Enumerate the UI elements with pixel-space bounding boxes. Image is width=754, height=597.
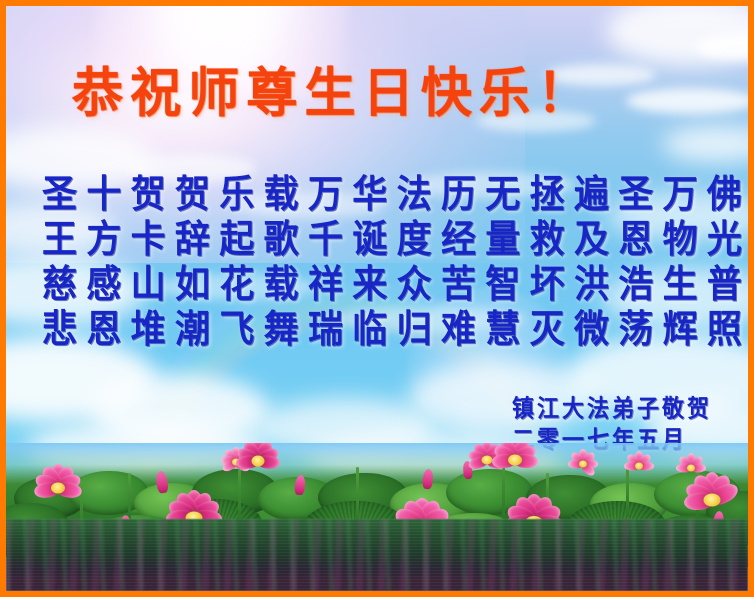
poem-char: 感 xyxy=(86,264,121,305)
poem-char: 潮 xyxy=(175,309,210,350)
poem-row: 慈 感 山 如 花 载 祥 来 众 苦 智 坏 洪 浩 生 普 xyxy=(42,262,742,307)
poem-char: 飞 xyxy=(219,309,254,350)
water-reflections xyxy=(6,519,748,591)
poem-row: 王 方 卡 辞 起 歌 千 诞 度 经 量 救 及 恩 物 光 xyxy=(42,217,742,262)
poem-char: 遍 xyxy=(574,174,609,215)
poem-char: 佛 xyxy=(707,174,742,215)
lotus-pond-illustration xyxy=(6,443,748,591)
poem-char: 浩 xyxy=(618,264,653,305)
poem-char: 物 xyxy=(663,219,698,260)
poem-char: 歌 xyxy=(264,219,299,260)
poem-char: 卡 xyxy=(131,219,166,260)
poem-char: 起 xyxy=(219,219,254,260)
poem-char: 苦 xyxy=(441,264,476,305)
poem-char: 无 xyxy=(485,174,520,215)
poem-char: 慧 xyxy=(485,309,520,350)
poem-char: 众 xyxy=(397,264,432,305)
poem-char: 来 xyxy=(352,264,387,305)
poem-char: 贺 xyxy=(131,174,166,215)
poem-char: 及 xyxy=(574,219,609,260)
poem-char: 载 xyxy=(264,174,299,215)
lotus-flower xyxy=(484,443,546,483)
poem-char: 临 xyxy=(352,309,387,350)
lotus-center xyxy=(51,483,65,494)
lotus-center xyxy=(687,465,695,472)
lotus-center xyxy=(508,455,522,466)
poem-char: 辞 xyxy=(175,219,210,260)
poem-char: 归 xyxy=(397,309,432,350)
poem-block: 圣 十 贺 贺 乐 载 万 华 法 历 无 拯 遍 圣 万 佛 王 方 卡 xyxy=(42,172,742,352)
poem-char: 万 xyxy=(308,174,343,215)
poem-char: 乐 xyxy=(219,174,254,215)
page-title: 恭祝师尊生日快乐！ xyxy=(72,62,595,123)
poem-char: 普 xyxy=(707,264,742,305)
poem-char: 方 xyxy=(86,219,121,260)
lotus-flower xyxy=(228,443,288,483)
lotus-center xyxy=(635,463,643,470)
poem-char: 难 xyxy=(441,309,476,350)
poem-char: 万 xyxy=(663,174,698,215)
lotus-flower xyxy=(618,451,660,481)
poem-char: 慈 xyxy=(42,264,77,305)
poem-char: 十 xyxy=(86,174,121,215)
poem-char: 山 xyxy=(131,264,166,305)
poem-char: 历 xyxy=(441,174,476,215)
poem-char: 坏 xyxy=(530,264,565,305)
poem-char: 载 xyxy=(264,264,299,305)
poem-char: 度 xyxy=(397,219,432,260)
poem-char: 救 xyxy=(530,219,565,260)
lotus-center xyxy=(252,456,265,467)
lotus-center xyxy=(704,494,721,507)
poem-char: 舞 xyxy=(264,309,299,350)
cloud-icon xyxy=(626,88,748,114)
poem-char: 微 xyxy=(574,309,609,350)
poem-char: 光 xyxy=(707,219,742,260)
poem-char: 生 xyxy=(663,264,698,305)
poem-row: 悲 恩 堆 潮 飞 舞 瑞 临 归 难 慧 灭 微 荡 辉 照 xyxy=(42,307,742,352)
poem-char: 拯 xyxy=(530,174,565,215)
poem-char: 如 xyxy=(175,264,210,305)
poem-char: 千 xyxy=(308,219,343,260)
poem-char: 堆 xyxy=(131,309,166,350)
lotus-flower xyxy=(562,449,604,479)
lotus-flower xyxy=(26,465,90,511)
poem-char: 王 xyxy=(42,219,77,260)
poem-char: 贺 xyxy=(175,174,210,215)
poem-char: 智 xyxy=(485,264,520,305)
poem-char: 照 xyxy=(707,309,742,350)
poem-char: 荡 xyxy=(618,309,653,350)
poem-char: 圣 xyxy=(42,174,77,215)
poem-char: 恩 xyxy=(618,219,653,260)
signature-sender: 镇江大法弟子敬贺 xyxy=(512,393,712,426)
lotus-stem xyxy=(128,473,131,521)
greeting-card: 恭祝师尊生日快乐！ 圣 十 贺 贺 乐 载 万 华 法 历 无 拯 遍 圣 万 … xyxy=(0,0,754,597)
poem-char: 花 xyxy=(219,264,254,305)
poem-char: 辉 xyxy=(663,309,698,350)
poem-char: 瑞 xyxy=(308,309,343,350)
poem-char: 法 xyxy=(397,174,432,215)
poem-char: 华 xyxy=(352,174,387,215)
poem-char: 经 xyxy=(441,219,476,260)
poem-char: 灭 xyxy=(530,309,565,350)
poem-char: 悲 xyxy=(42,309,77,350)
poem-char: 恩 xyxy=(86,309,121,350)
lotus-center xyxy=(579,461,587,468)
card-scene: 恭祝师尊生日快乐！ 圣 十 贺 贺 乐 载 万 华 法 历 无 拯 遍 圣 万 … xyxy=(6,6,748,591)
poem-row: 圣 十 贺 贺 乐 载 万 华 法 历 无 拯 遍 圣 万 佛 xyxy=(42,172,742,217)
poem-char: 圣 xyxy=(618,174,653,215)
poem-char: 诞 xyxy=(352,219,387,260)
poem-char: 洪 xyxy=(574,264,609,305)
poem-char: 量 xyxy=(485,219,520,260)
poem-char: 祥 xyxy=(308,264,343,305)
